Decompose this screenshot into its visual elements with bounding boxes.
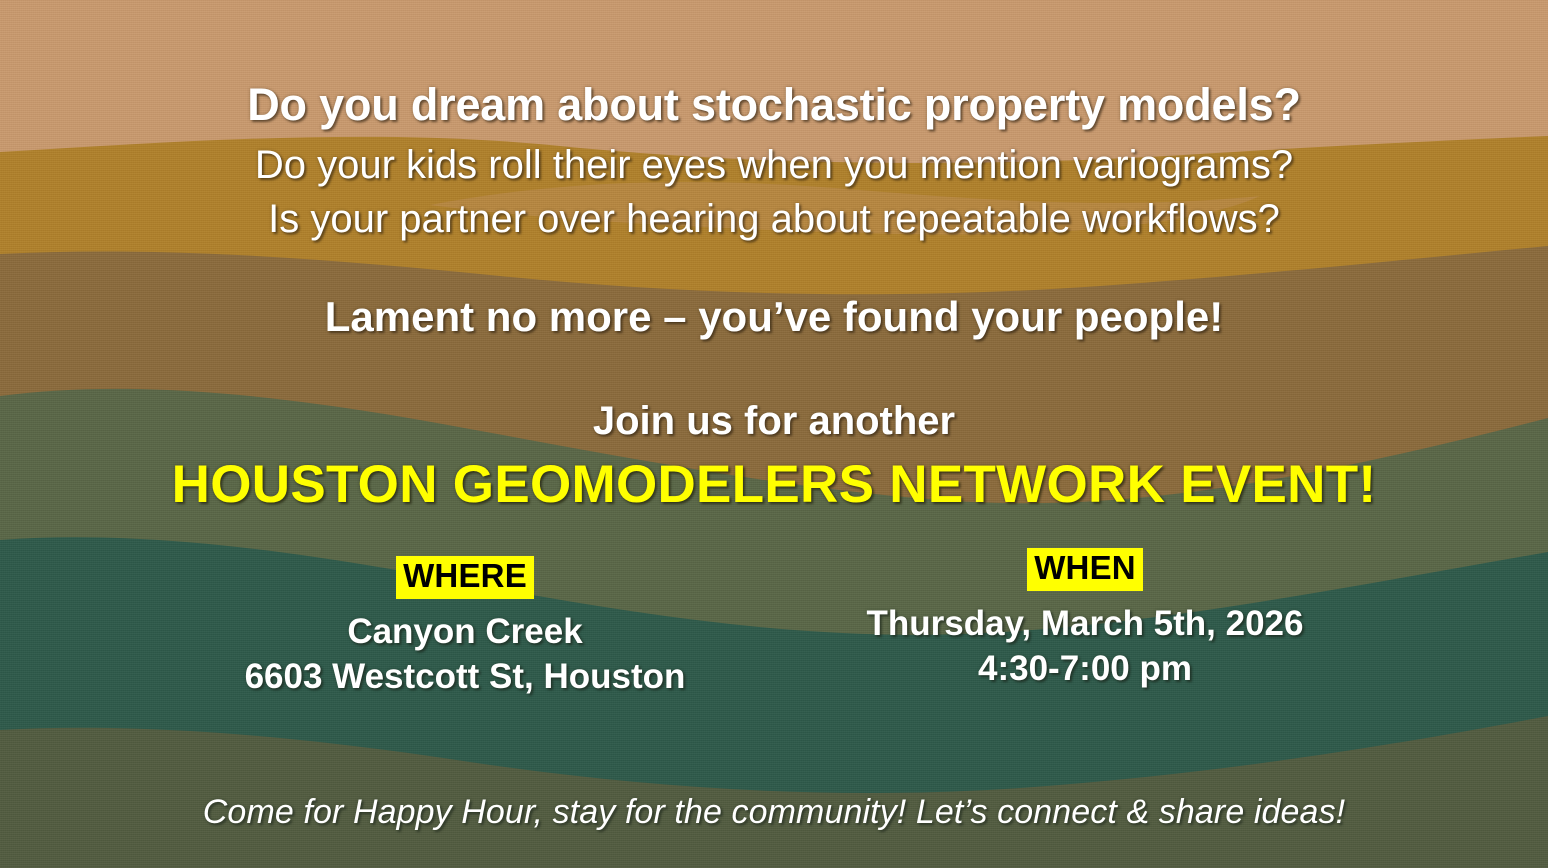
question-line-2: Do your kids roll their eyes when you me… (0, 145, 1548, 185)
when-time: 4:30-7:00 pm (775, 647, 1395, 692)
footer-note: Come for Happy Hour, stay for the commun… (0, 795, 1548, 829)
event-title: HOUSTON GEOMODELERS NETWORK EVENT! (0, 458, 1548, 511)
lament-tagline: Lament no more – you’ve found your peopl… (0, 296, 1548, 338)
event-flyer: Do you dream about stochastic property m… (0, 0, 1548, 868)
flyer-content: Do you dream about stochastic property m… (0, 0, 1548, 868)
question-line-3: Is your partner over hearing about repea… (0, 199, 1548, 239)
where-heading: WHERE (396, 556, 534, 599)
when-heading: WHEN (1027, 548, 1143, 591)
question-line-1: Do you dream about stochastic property m… (0, 82, 1548, 127)
when-column: WHEN Thursday, March 5th, 2026 4:30-7:00… (775, 548, 1395, 692)
join-invite-line: Join us for another (0, 401, 1548, 441)
when-date: Thursday, March 5th, 2026 (775, 602, 1395, 647)
where-column: WHERE Canyon Creek 6603 Westcott St, Hou… (155, 556, 775, 700)
where-address: 6603 Westcott St, Houston (155, 655, 775, 700)
where-venue: Canyon Creek (155, 610, 775, 655)
